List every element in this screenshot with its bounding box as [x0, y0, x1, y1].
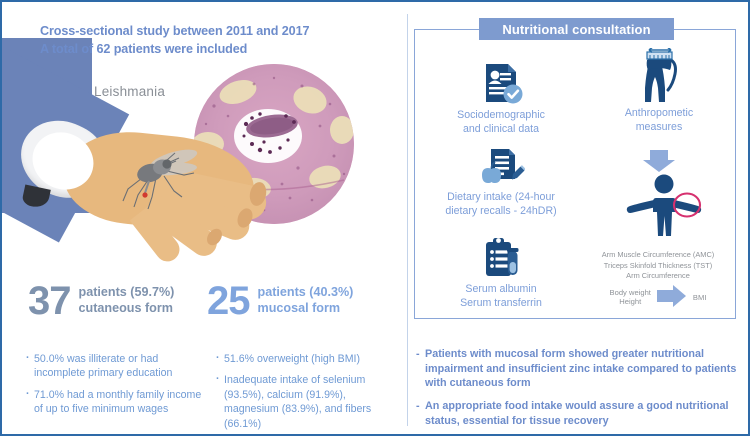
stat-mucosal-line1: patients (40.3%) — [258, 285, 354, 301]
bmi-output-label: BMI — [693, 293, 707, 303]
caption-line-2: and clinical data — [422, 123, 580, 137]
list-item: Inadequate intake of selenium (93.5%), c… — [216, 373, 401, 431]
stat-cutaneous-number: 37 — [28, 282, 71, 320]
list-item: Patients with mucosal form showed greate… — [416, 347, 741, 391]
stats-row: 37 patients (59.7%) cutaneous form 25 pa… — [2, 282, 407, 342]
stat-cutaneous-text: patients (59.7%) cutaneous form — [79, 285, 175, 316]
panel-title: Nutritional consultation — [479, 18, 674, 40]
caption-line-2: Serum transferrin — [422, 297, 580, 311]
anthropometric-measures-list: Arm Muscle Circumference (AMC) Triceps S… — [580, 250, 736, 282]
arrow-right-icon — [657, 285, 687, 310]
caption-line-1: Anthropometic — [584, 107, 734, 121]
leishmania-label: Leishmania — [94, 84, 165, 99]
stat-mucosal-line2: mucosal form — [258, 301, 354, 317]
stat-mucosal-number: 25 — [207, 282, 250, 320]
panel-item-serum-caption: Serum albumin Serum transferrin — [422, 283, 580, 311]
panel-item-anthropometric: Anthropometic measures — [584, 58, 734, 135]
bmi-inputs: Body weight Height — [610, 288, 651, 308]
infographic-poster: Cross-sectional study between 2011 and 2… — [0, 0, 750, 436]
bmi-input-weight: Body weight — [610, 288, 651, 298]
panel-item-dietary-caption: Dietary intake (24-hour dietary recalls … — [422, 191, 580, 219]
findings-mucosal-list: 51.6% overweight (high BMI) Inadequate i… — [216, 352, 401, 436]
headline-line-2: A total of 62 patients were included — [40, 40, 370, 58]
caption-line-1: Dietary intake (24-hour — [422, 191, 580, 205]
column-divider — [407, 14, 408, 426]
stat-cutaneous-line2: cutaneous form — [79, 301, 175, 317]
bmi-formula-row: Body weight Height BMI — [580, 285, 736, 310]
caption-line-2: dietary recalls - 24hDR) — [422, 205, 580, 219]
stat-mucosal: 25 patients (40.3%) mucosal form — [207, 282, 353, 320]
measure-line: Triceps Skinfold Thickness (TST) — [580, 261, 736, 272]
stat-mucosal-text: patients (40.3%) mucosal form — [258, 285, 354, 316]
stat-cutaneous: 37 patients (59.7%) cutaneous form — [28, 282, 174, 320]
panel-item-sociodemographic: Sociodemographic and clinical data — [422, 60, 580, 137]
caption-line-2: measures — [584, 121, 734, 135]
list-item: 71.0% had a monthly family income of up … — [26, 388, 206, 417]
clipboard-test-tube-icon — [422, 234, 580, 280]
panel-item-serum: Serum albumin Serum transferrin — [422, 234, 580, 311]
headline-line-1: Cross-sectional study between 2011 and 2… — [40, 22, 370, 40]
measure-line: Arm Circumference — [580, 271, 736, 282]
caption-line-1: Sociodemographic — [422, 109, 580, 123]
stat-cutaneous-line1: patients (59.7%) — [79, 285, 175, 301]
measure-line: Arm Muscle Circumference (AMC) — [580, 250, 736, 261]
apple-document-pencil-icon — [422, 142, 580, 188]
page-title: Cross-sectional study between 2011 and 2… — [40, 22, 370, 59]
sandfly-illustration — [112, 145, 202, 215]
list-item: An appropriate food intake would assure … — [416, 399, 741, 428]
list-item: 51.6% overweight (high BMI) — [216, 352, 401, 366]
panel-item-anthropometric-caption: Anthropometic measures — [584, 107, 734, 135]
body-composition-figure-icon — [617, 172, 711, 243]
list-item: 50.0% was illiterate or had incomplete p… — [26, 352, 206, 381]
measuring-tape-waist-icon — [584, 58, 734, 104]
panel-item-dietary-intake: Dietary intake (24-hour dietary recalls … — [422, 142, 580, 219]
panel-item-sociodemographic-caption: Sociodemographic and clinical data — [422, 109, 580, 137]
findings-cutaneous-list: 50.0% was illiterate or had incomplete p… — [26, 352, 206, 424]
clipboard-person-check-icon — [422, 60, 580, 106]
caption-line-1: Serum albumin — [422, 283, 580, 297]
conclusions-list: Patients with mucosal form showed greate… — [416, 347, 741, 436]
bmi-input-height: Height — [610, 297, 651, 307]
left-column: Cross-sectional study between 2011 and 2… — [2, 2, 407, 434]
